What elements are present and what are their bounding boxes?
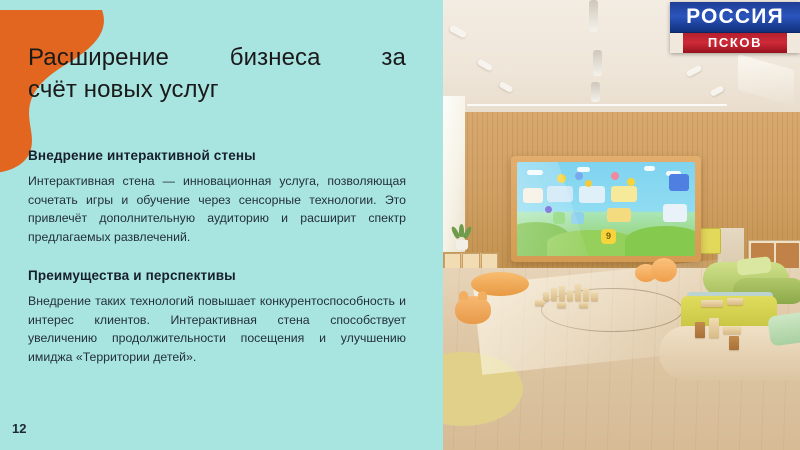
section-2-heading: Преимущества и перспективы [28, 268, 406, 283]
logo-pskov-text: ПСКОВ [683, 33, 787, 53]
screen-badge [627, 178, 635, 186]
slide-title-line-2: счёт новых услуг [28, 74, 406, 106]
play-ball [651, 258, 677, 282]
screen-badge [575, 172, 583, 180]
screen-tile [553, 212, 565, 224]
wooden-block [575, 284, 581, 301]
wooden-block [551, 288, 557, 301]
wooden-block [729, 336, 739, 350]
channel-logo: РОССИЯ ПСКОВ [670, 2, 800, 53]
photo-left-edge [437, 0, 443, 450]
section-benefits: Преимущества и перспективы Внедрение так… [28, 268, 406, 367]
pendant-lamp [593, 50, 602, 76]
screen-tile [547, 186, 573, 202]
screen-hill [625, 226, 695, 256]
screen-cloud [527, 170, 543, 175]
screen-badge [611, 172, 619, 180]
screen-badge [545, 206, 552, 213]
screen-tile [579, 186, 605, 203]
screen-tile [663, 204, 687, 222]
room-photo: 9 [437, 0, 800, 450]
ceiling-rail [467, 104, 727, 106]
wooden-block [695, 322, 705, 338]
wooden-block [557, 302, 566, 308]
page-number: 12 [12, 421, 26, 436]
wooden-block [583, 288, 589, 301]
logo-rossiya-text: РОССИЯ [670, 2, 800, 33]
screen-tile [607, 208, 631, 222]
pendant-lamp [591, 82, 600, 102]
cat-shaped-pouf [455, 296, 491, 324]
wooden-block [709, 318, 719, 338]
screen-tile [523, 188, 543, 203]
section-interactive-wall: Внедрение интерактивной стены Интерактив… [28, 148, 406, 247]
wooden-block [579, 302, 588, 308]
section-1-body: Интерактивная стена — инновационная услу… [28, 172, 406, 247]
interactive-wall-screen: 9 [517, 162, 695, 256]
screen-badge [557, 174, 566, 183]
section-2-body: Внедрение таких технологий повышает конк… [28, 292, 406, 367]
wooden-block [723, 326, 741, 334]
screen-tile [611, 186, 637, 202]
screen-tile [571, 212, 584, 224]
wooden-block [535, 300, 544, 306]
screen-cloud [644, 166, 655, 171]
screen-badge [585, 180, 592, 187]
potted-plant [451, 226, 473, 250]
room-illustration: 9 [437, 0, 800, 450]
screen-tile [669, 174, 689, 191]
wooden-block [727, 298, 743, 305]
screen-number-tile: 9 [601, 229, 616, 244]
wooden-block [567, 290, 573, 301]
wooden-block [701, 300, 723, 307]
content-panel: Расширение бизнеса за счёт новых услуг В… [0, 0, 440, 450]
slide-title: Расширение бизнеса за счёт новых услуг [28, 42, 406, 105]
wooden-block [591, 292, 598, 301]
section-1-heading: Внедрение интерактивной стены [28, 148, 406, 163]
teal-cushion [767, 311, 800, 346]
slide: Расширение бизнеса за счёт новых услуг В… [0, 0, 800, 450]
interactive-wall-frame: 9 [511, 156, 701, 262]
pendant-lamp [589, 0, 598, 32]
screen-hill [547, 230, 637, 256]
slide-title-line-1: Расширение бизнеса за [28, 42, 406, 74]
wooden-block [559, 286, 565, 301]
